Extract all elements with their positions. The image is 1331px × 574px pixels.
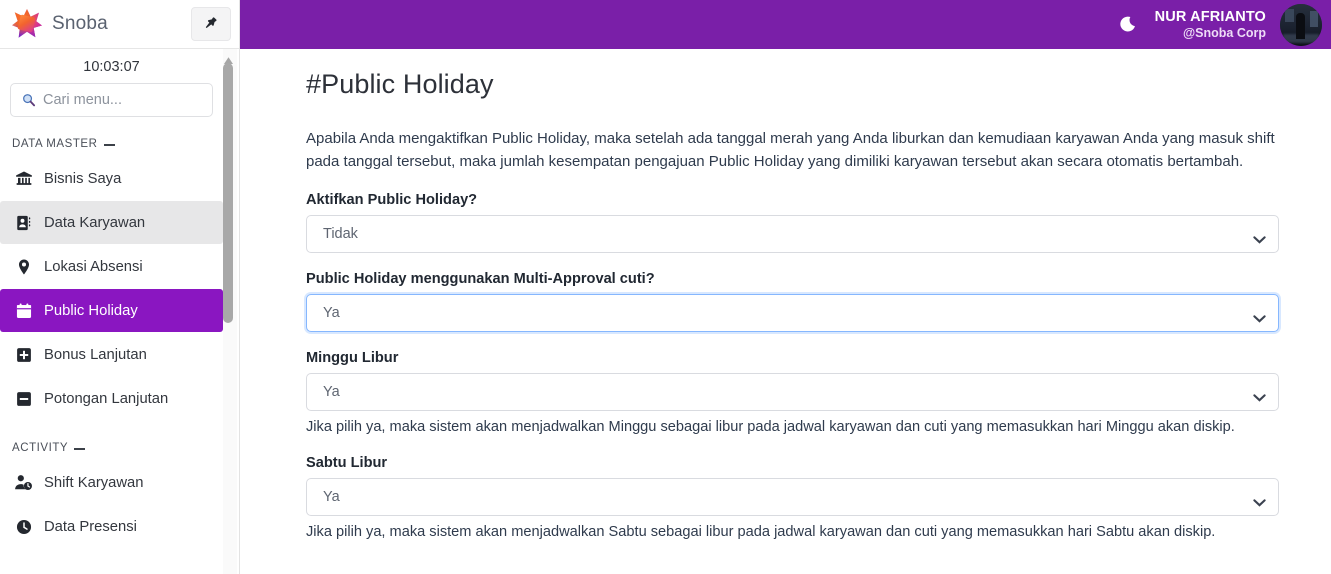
sidebar-brand-row: Snoba <box>0 0 239 49</box>
select-shell: Ya <box>306 373 1279 411</box>
page-content: #Public Holiday Apabila Anda mengaktifka… <box>240 49 1331 574</box>
sidebar-item-label: Data Karyawan <box>44 215 145 231</box>
select-multi-approval-cuti[interactable]: Ya <box>306 294 1279 332</box>
sidebar-item-potongan-lanjutan[interactable]: Potongan Lanjutan <box>0 377 223 420</box>
sidebar-item-label: Public Holiday <box>44 303 138 319</box>
sidebar-item-lokasi-absensi[interactable]: Lokasi Absensi <box>0 245 223 288</box>
sidebar-scrollbar-thumb[interactable] <box>223 63 233 323</box>
user-clock-icon <box>14 473 33 492</box>
sidebar-section-data-master[interactable]: DATA MASTER <box>0 117 223 157</box>
sidebar-item-label: Lokasi Absensi <box>44 259 143 275</box>
sidebar-item-label: Data Presensi <box>44 519 137 535</box>
sidebar-item-data-karyawan[interactable]: Data Karyawan <box>0 201 223 244</box>
minus-icon <box>104 144 115 146</box>
sidebar-search-wrap <box>0 83 223 117</box>
calendar-icon <box>14 301 33 320</box>
field-aktifkan-public-holiday: Aktifkan Public Holiday? Tidak <box>306 192 1279 253</box>
user-org: @Snoba Corp <box>1155 26 1266 40</box>
sidebar: Snoba 10:03:07 <box>0 0 240 574</box>
field-label: Sabtu Libur <box>306 455 1279 471</box>
snoba-burst-logo-icon <box>12 9 42 39</box>
minus-square-icon <box>14 389 33 408</box>
sidebar-scrollbar[interactable] <box>223 49 237 574</box>
select-aktifkan-public-holiday[interactable]: Tidak <box>306 215 1279 253</box>
sidebar-clock: 10:03:07 <box>0 49 223 83</box>
moon-icon[interactable] <box>1115 12 1141 38</box>
map-marker-icon <box>14 257 33 276</box>
id-card-icon <box>14 213 33 232</box>
minus-icon <box>74 448 85 450</box>
plus-square-icon <box>14 345 33 364</box>
sidebar-scroll-area: 10:03:07 DATA MASTER <box>0 49 239 574</box>
search-input[interactable] <box>43 92 202 108</box>
sidebar-item-bisnis-saya[interactable]: Bisnis Saya <box>0 157 223 200</box>
field-minggu-libur: Minggu Libur Ya Jika pilih ya, maka sist… <box>306 350 1279 437</box>
sidebar-item-label: Bisnis Saya <box>44 171 121 187</box>
field-multi-approval-cuti: Public Holiday menggunakan Multi-Approva… <box>306 271 1279 332</box>
sidebar-item-label: Potongan Lanjutan <box>44 391 168 407</box>
field-help-text: Jika pilih ya, maka sistem akan menjadwa… <box>306 417 1279 437</box>
page-description: Apabila Anda mengaktifkan Public Holiday… <box>306 128 1279 174</box>
sidebar-section-label: ACTIVITY <box>12 442 68 454</box>
sidebar-item-label: Bonus Lanjutan <box>44 347 147 363</box>
field-help-text: Jika pilih ya, maka sistem akan menjadwa… <box>306 522 1279 542</box>
select-shell: Tidak <box>306 215 1279 253</box>
clock-icon <box>14 517 33 536</box>
field-label: Minggu Libur <box>306 350 1279 366</box>
app-window: Snoba 10:03:07 <box>0 0 1331 574</box>
select-shell: Ya <box>306 294 1279 332</box>
sidebar-item-label: Shift Karyawan <box>44 475 144 491</box>
page-title: #Public Holiday <box>306 69 1279 100</box>
sidebar-section-activity[interactable]: ACTIVITY <box>0 421 223 461</box>
field-label: Public Holiday menggunakan Multi-Approva… <box>306 271 1279 287</box>
user-menu[interactable]: NUR AFRIANTO @Snoba Corp <box>1155 9 1266 39</box>
search-icon <box>21 92 36 109</box>
top-header-bar: NUR AFRIANTO @Snoba Corp <box>240 0 1331 49</box>
select-shell: Ya <box>306 478 1279 516</box>
search-box[interactable] <box>10 83 213 117</box>
bank-icon <box>14 169 33 188</box>
select-sabtu-libur[interactable]: Ya <box>306 478 1279 516</box>
sidebar-item-bonus-lanjutan[interactable]: Bonus Lanjutan <box>0 333 223 376</box>
sidebar-item-data-presensi[interactable]: Data Presensi <box>0 505 223 548</box>
avatar[interactable] <box>1280 4 1322 46</box>
user-name: NUR AFRIANTO <box>1155 9 1266 25</box>
main-region: NUR AFRIANTO @Snoba Corp #Public Holiday… <box>240 0 1331 574</box>
scroll-up-arrow-icon[interactable] <box>223 52 234 61</box>
field-sabtu-libur: Sabtu Libur Ya Jika pilih ya, maka siste… <box>306 455 1279 542</box>
pushpin-icon[interactable] <box>191 7 231 41</box>
field-label: Aktifkan Public Holiday? <box>306 192 1279 208</box>
sidebar-item-shift-karyawan[interactable]: Shift Karyawan <box>0 461 223 504</box>
brand-name: Snoba <box>52 13 191 35</box>
sidebar-item-public-holiday[interactable]: Public Holiday <box>0 289 223 332</box>
select-minggu-libur[interactable]: Ya <box>306 373 1279 411</box>
sidebar-section-label: DATA MASTER <box>12 138 98 150</box>
